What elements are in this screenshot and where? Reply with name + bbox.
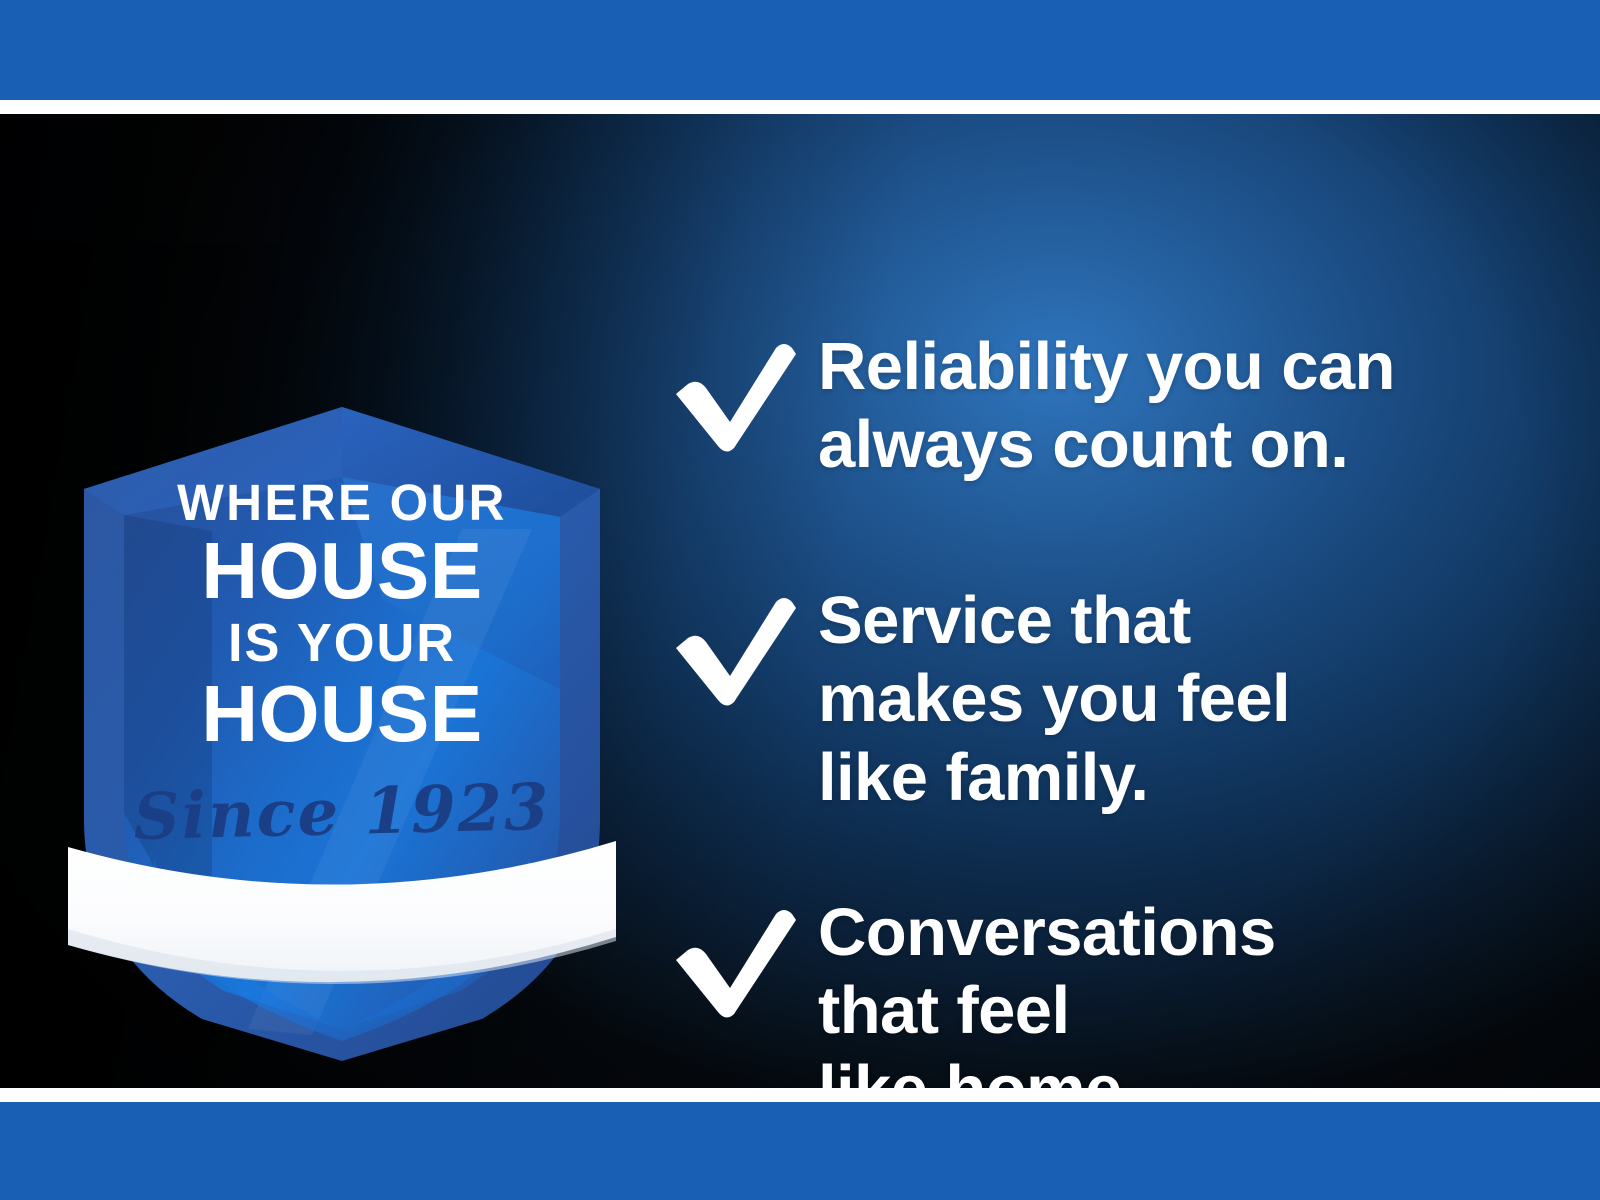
benefit-item: Conversations that feel like home. xyxy=(668,894,1568,1088)
benefit-text: Conversations that feel like home. xyxy=(818,894,1568,1088)
checkmark-icon xyxy=(668,328,818,454)
bottom-brand-bar xyxy=(0,1102,1600,1200)
checkmark-icon xyxy=(668,894,818,1020)
promo-graphic-canvas: WHERE OUR HOUSE IS YOUR HOUSE Since 1923… xyxy=(0,0,1600,1200)
benefits-list: Reliability you can always count on. Ser… xyxy=(668,304,1568,1088)
benefit-text: Service that makes you feel like family. xyxy=(818,582,1568,817)
checkmark-icon xyxy=(668,582,818,708)
top-brand-bar xyxy=(0,0,1600,100)
badge: WHERE OUR HOUSE IS YOUR HOUSE Since 1923 xyxy=(62,389,622,1064)
main-panel: WHERE OUR HOUSE IS YOUR HOUSE Since 1923… xyxy=(0,114,1600,1088)
benefit-text: Reliability you can always count on. xyxy=(818,328,1568,485)
benefit-item: Service that makes you feel like family. xyxy=(668,582,1568,817)
panel-noise-texture xyxy=(0,114,280,244)
benefit-item: Reliability you can always count on. xyxy=(668,328,1568,485)
